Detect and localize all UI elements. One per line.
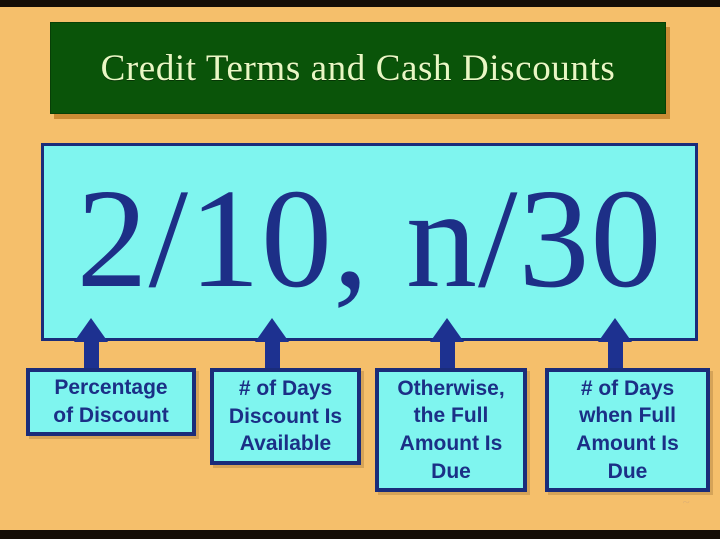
page-title: Credit Terms and Cash Discounts — [101, 47, 616, 90]
callout-days-when-full-amount-due: # of Days when Full Amount Is Due — [545, 368, 710, 492]
arrow-head-icon — [74, 318, 108, 342]
top-edge-bar — [0, 0, 720, 7]
callout-line: Percentage — [54, 374, 167, 402]
callout-line: the Full — [414, 402, 489, 430]
title-banner: Credit Terms and Cash Discounts — [50, 22, 666, 114]
arrow-head-icon — [255, 318, 289, 342]
arrow-head-icon — [430, 318, 464, 342]
callout-days-discount-available: # of Days Discount Is Available — [210, 368, 361, 465]
callout-line: # of Days — [581, 375, 674, 403]
callout-line: Discount Is — [229, 403, 342, 431]
callout-percentage-of-discount: Percentage of Discount — [26, 368, 196, 436]
credit-terms-formula-text: 2/10, n/30 — [77, 167, 663, 309]
arrow-head-icon — [598, 318, 632, 342]
callout-line: Due — [431, 458, 471, 486]
bottom-edge-bar — [0, 530, 720, 539]
callout-line: Otherwise, — [397, 375, 504, 403]
callout-line: of Discount — [53, 402, 169, 430]
callout-line: Available — [240, 430, 331, 458]
callout-line: Amount Is — [400, 430, 503, 458]
credit-terms-formula-box: 2/10, n/30 — [41, 143, 698, 341]
callout-line: Due — [608, 458, 648, 486]
callout-line: Amount Is — [576, 430, 679, 458]
callout-otherwise-full-amount-due: Otherwise, the Full Amount Is Due — [375, 368, 527, 492]
slide-canvas: Credit Terms and Cash Discounts 2/10, n/… — [0, 0, 720, 539]
callout-line: when Full — [579, 402, 676, 430]
watermark: ~ — [660, 495, 712, 525]
callout-line: # of Days — [239, 375, 332, 403]
